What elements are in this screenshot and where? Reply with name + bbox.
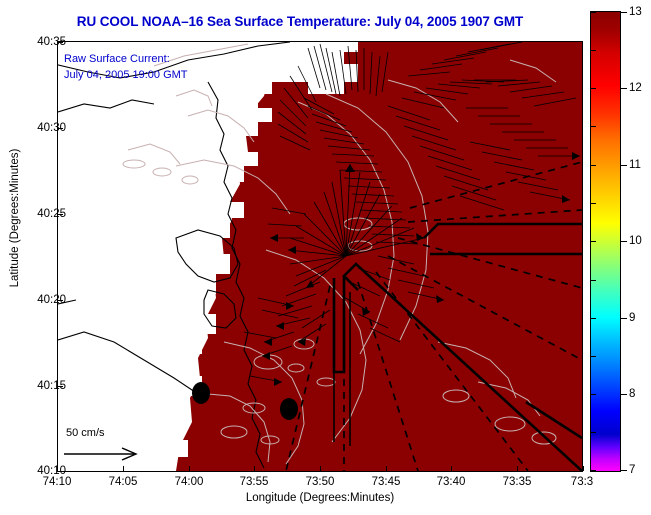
annotation-line-2: July 04, 2005 19:00 GMT [64,67,188,83]
x-tick-label: 73:50 [306,476,335,488]
velocity-scale-label: 50 cm/s [66,427,105,439]
x-tick-label: 73:55 [240,476,269,488]
figure-title: RU COOL NOAA–16 Sea Surface Temperature:… [0,14,600,29]
x-tick-label: 73:45 [372,476,401,488]
x-tick-label: 74:10 [43,476,72,488]
map-canvas: Raw Surface Current: July 04, 2005 19:00… [58,42,582,471]
x-tick-label: 73:40 [437,476,466,488]
x-tick-label: 74:00 [175,476,204,488]
sst-map-figure: RU COOL NOAA–16 Sea Surface Temperature:… [0,0,651,515]
colorbar-tick-label: 9 [629,312,635,324]
y-tick-label: 40:20 [37,294,66,306]
x-tick-label: 73:3 [571,476,593,488]
x-tick-label: 74:05 [109,476,138,488]
colorbar-tick-label: 8 [629,388,635,400]
y-axis-title: Latitude (Degrees:Minutes) [9,118,21,318]
velocity-scale-legend: 50 cm/s [58,427,166,471]
y-tick-label: 40:15 [37,380,66,392]
x-tick-label: 73:35 [503,476,532,488]
colorbar-tick-label: 7 [629,464,635,476]
y-tick-label: 40:35 [37,36,66,48]
colorbar-tick-label: 10 [629,235,642,247]
colorbar-tick-label: 13 [629,6,642,18]
map-graphics [58,42,582,471]
velocity-scale-arrow-icon [58,443,158,465]
y-tick-label: 40:25 [37,208,66,220]
annotation-line-1: Raw Surface Current: [64,51,188,67]
map-plot-area: Raw Surface Current: July 04, 2005 19:00… [57,41,583,472]
colorbar-tick-label: 12 [629,82,642,94]
y-tick-label: 40:30 [37,122,66,134]
current-annotation: Raw Surface Current: July 04, 2005 19:00… [64,51,188,83]
colorbar-tick-label: 11 [629,159,641,171]
x-axis-title: Longitude (Degrees:Minutes) [57,492,583,504]
